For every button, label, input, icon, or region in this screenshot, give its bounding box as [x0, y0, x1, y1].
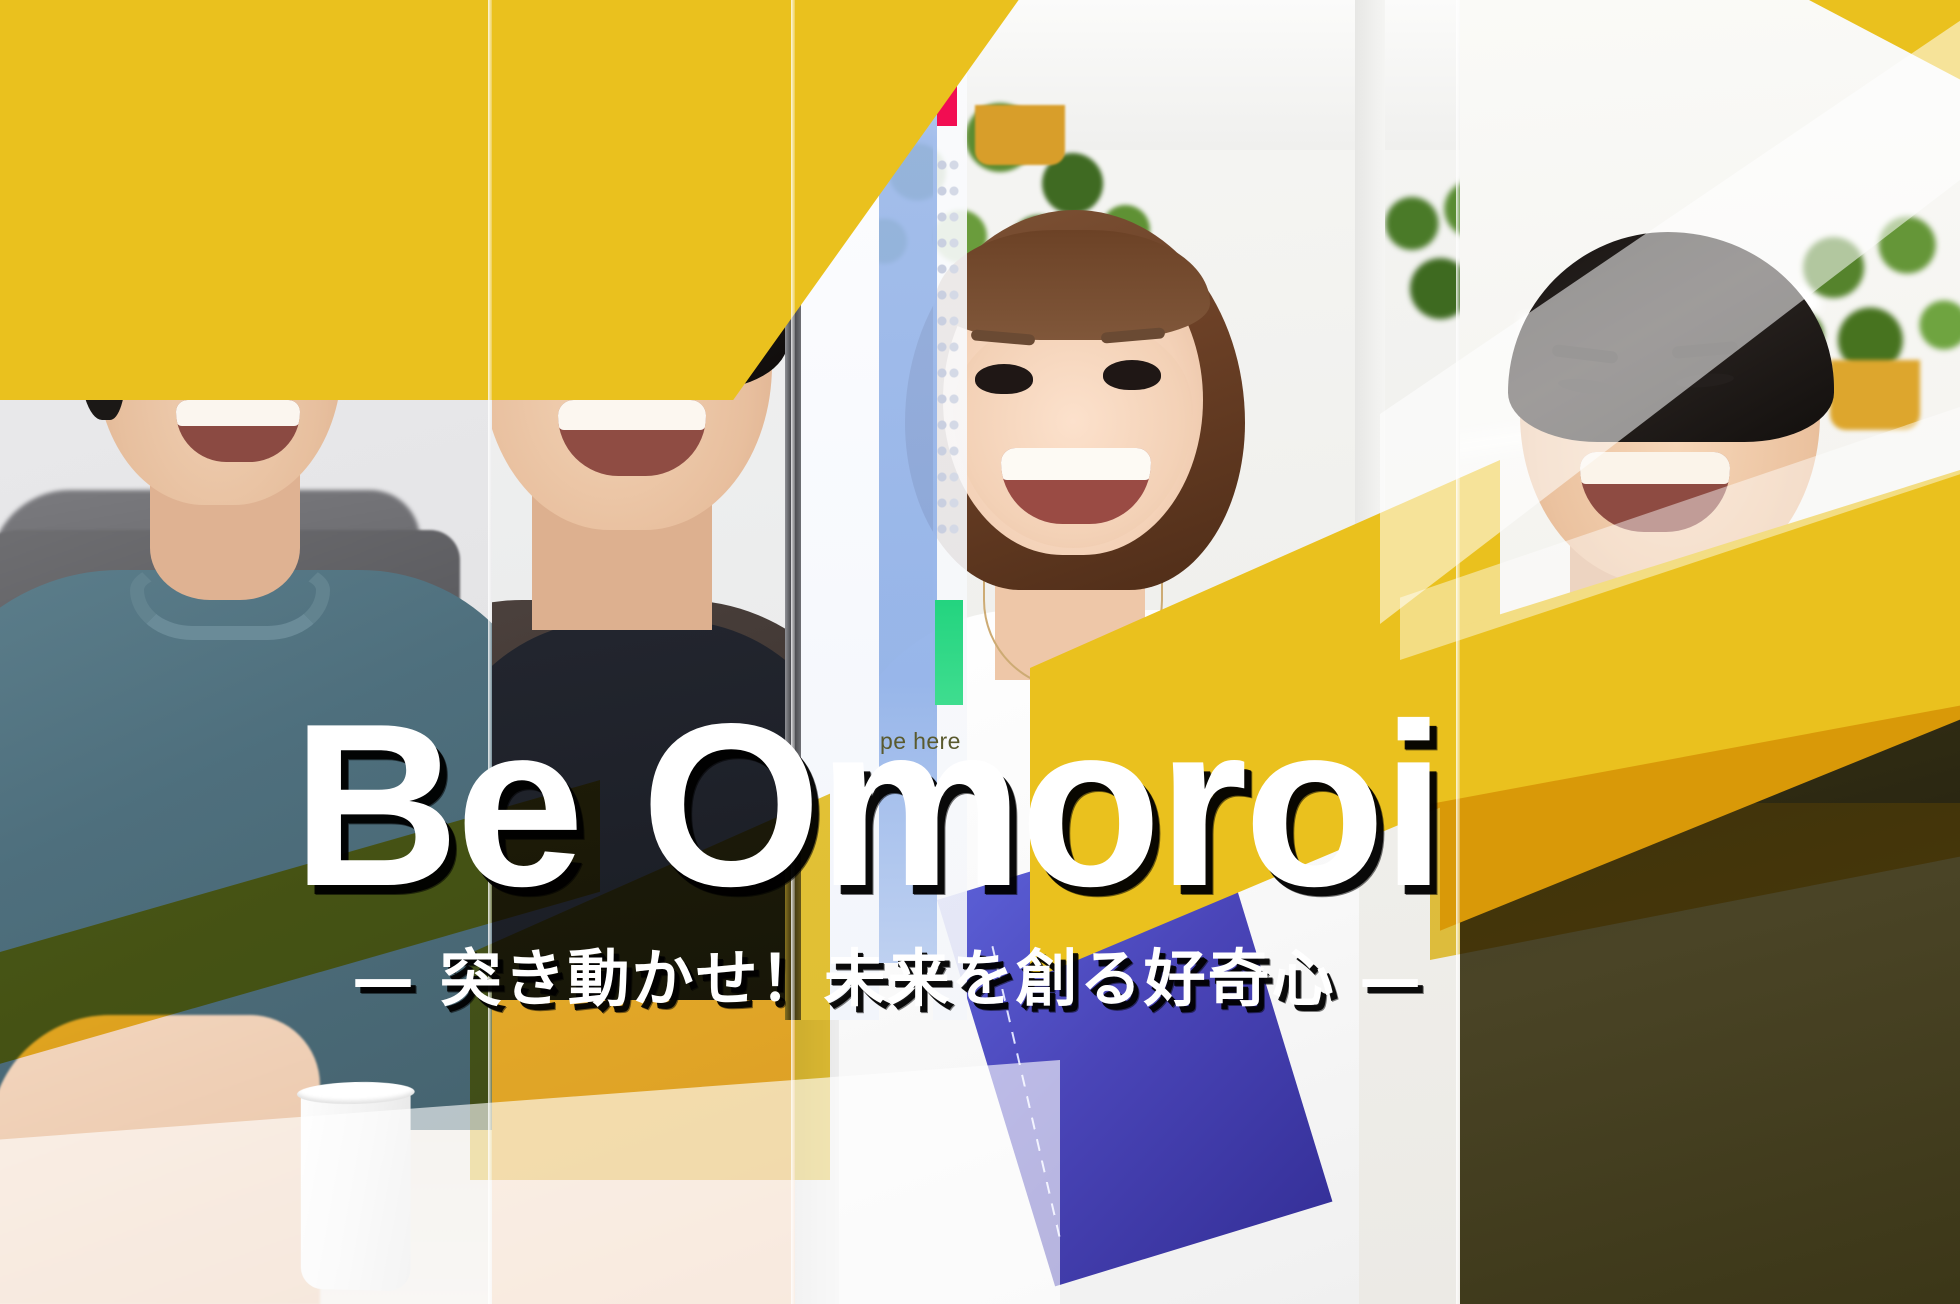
panel3-teeth	[1001, 448, 1151, 480]
recruiting-banner: pe here Be Omoroi — 突き動かせ！未来を創る好奇心 —	[0, 0, 1960, 1304]
screen-caption-text: pe here	[880, 728, 961, 755]
panel-seam-3	[1456, 0, 1460, 1304]
panel4-teeth	[1580, 452, 1730, 484]
panel1-collar	[130, 560, 330, 640]
panel3-eye-right	[1103, 360, 1161, 390]
panel1-teeth	[176, 400, 300, 426]
panel2-teeth	[558, 400, 706, 430]
panel-seam-2	[791, 0, 795, 1304]
panel4-plant-pot	[1830, 360, 1920, 430]
panel-seam-1	[488, 0, 492, 1304]
